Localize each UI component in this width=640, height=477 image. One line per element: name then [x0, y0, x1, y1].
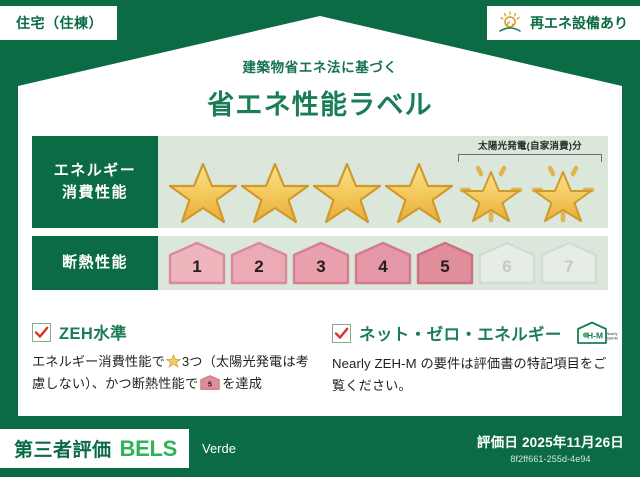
evaluation-info: 評価日 2025年11月26日 8f2ff661-255d-4e94	[477, 431, 624, 464]
criterion-nzeb-body: Nearly ZEH-M の要件は評価書の特記項目をご覧ください。	[332, 353, 612, 397]
energy-performance-stars-area: 太陽光発電(自家消費)分	[158, 136, 608, 228]
star-filled	[168, 158, 238, 224]
criterion-zeh-text-3: を達成	[222, 376, 262, 391]
star-solar	[456, 158, 526, 224]
criterion-zeh-body: エネルギー消費性能で3つ（太陽光発電は考慮しない）、かつ断熱性能で5を達成	[32, 351, 310, 395]
sun-icon	[497, 11, 523, 35]
evaluator-name: Verde	[202, 441, 236, 456]
evaluation-id: 8f2ff661-255d-4e94	[477, 454, 624, 464]
star-rating	[158, 158, 608, 224]
insulation-badge-inactive: 6	[478, 241, 536, 285]
criterion-zeh-title: ZEH水準	[59, 320, 127, 344]
criterion-zeh-header: ZEH水準	[32, 320, 310, 344]
label-subtitle: 建築物省エネ法に基づく	[0, 56, 640, 76]
star-filled	[312, 158, 382, 224]
energy-performance-row: エネルギー 消費性能 太陽光発電(自家消費)分	[32, 136, 608, 228]
insulation-badge: 1	[168, 241, 226, 285]
bels-tag: 第三者評価 BELS	[0, 429, 189, 468]
star-icon	[166, 353, 181, 368]
criteria-section: ZEH水準 エネルギー消費性能で3つ（太陽光発電は考慮しない）、かつ断熱性能で5…	[32, 320, 612, 397]
renewable-energy-label: 再エネ設備あり	[530, 13, 628, 33]
footer: 第三者評価 BELS Verde 評価日 2025年11月26日 8f2ff66…	[0, 417, 640, 477]
solar-annotation-label: 太陽光発電(自家消費)分	[458, 138, 602, 152]
rating-rows: エネルギー 消費性能 太陽光発電(自家消費)分	[32, 136, 608, 298]
insulation-badge-inactive: 7	[540, 241, 598, 285]
bels-label: 第三者評価	[14, 435, 112, 462]
criterion-nzeb-title: ネット・ゼロ・エネルギー	[359, 321, 562, 345]
criterion-zeh: ZEH水準 エネルギー消費性能で3つ（太陽光発電は考慮しない）、かつ断熱性能で5…	[32, 320, 310, 397]
evaluation-date: 評価日 2025年11月26日	[477, 431, 624, 451]
checkmark-icon	[32, 323, 51, 342]
title-block: 建築物省エネ法に基づく 省エネ性能ラベル	[0, 56, 640, 122]
page-title: 省エネ性能ラベル	[0, 83, 640, 122]
insulation-badge: 5	[416, 241, 474, 285]
svg-text:H-M: H-M	[587, 331, 603, 341]
checkmark-icon	[332, 324, 351, 343]
insulation-badge-list: 1 2 3 4 5	[158, 236, 608, 290]
insulation-badge: 2	[230, 241, 288, 285]
renewable-energy-tag: 再エネ設備あり	[487, 6, 640, 40]
zeh-m-logo-icon: H-M Nearly ZEH-M	[572, 320, 618, 346]
insulation-performance-label: 断熱性能	[32, 236, 158, 290]
criterion-nzeb: ネット・ゼロ・エネルギー H-M Nearly ZEH-M Nearly ZEH…	[332, 320, 612, 397]
insulation-badges-area: 1 2 3 4 5	[158, 236, 608, 290]
star-filled	[384, 158, 454, 224]
insulation-performance-row: 断熱性能 1 2 3 4	[32, 236, 608, 290]
star-filled	[240, 158, 310, 224]
svg-text:5: 5	[208, 379, 212, 388]
insulation-badge: 4	[354, 241, 412, 285]
svg-text:Nearly: Nearly	[606, 332, 617, 336]
criterion-nzeb-header: ネット・ゼロ・エネルギー H-M Nearly ZEH-M	[332, 320, 612, 346]
insulation-badge: 3	[292, 241, 350, 285]
building-type-tag: 住宅（住棟）	[0, 6, 117, 40]
energy-performance-label: エネルギー 消費性能	[32, 136, 158, 228]
criterion-zeh-text-1: エネルギー消費性能で	[32, 354, 165, 369]
svg-text:ZEH-M: ZEH-M	[606, 337, 617, 341]
bels-mark: BELS	[120, 436, 177, 462]
star-solar	[528, 158, 598, 224]
insulation-badge-icon: 5	[200, 375, 220, 390]
